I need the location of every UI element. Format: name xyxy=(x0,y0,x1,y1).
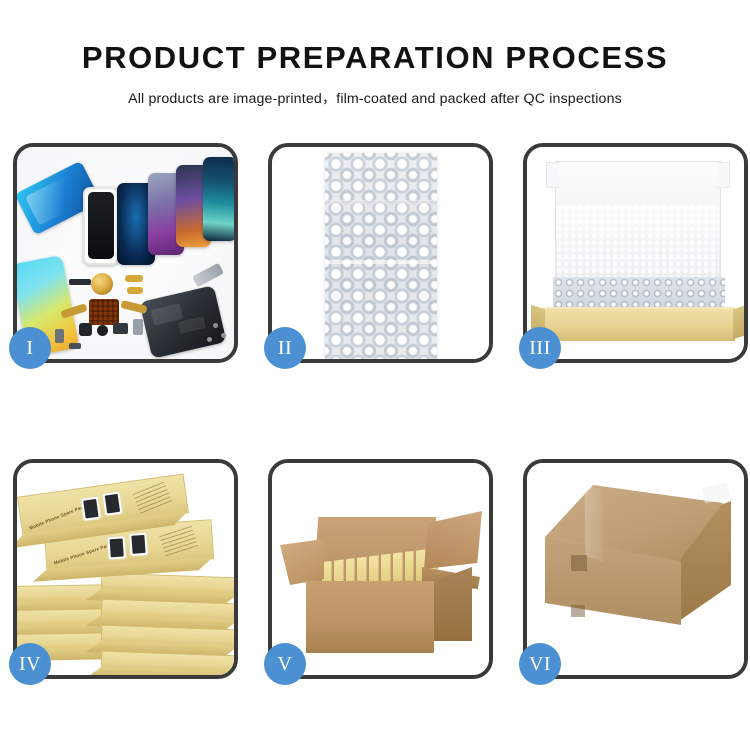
page-title: PRODUCT PREPARATION PROCESS xyxy=(0,40,750,76)
battery-icon xyxy=(133,319,143,335)
camera-lens-icon xyxy=(97,325,108,336)
phone-artwork-icon xyxy=(107,536,125,559)
step-badge-4: IV xyxy=(9,643,51,685)
packing-tape-icon xyxy=(584,484,603,562)
phone-motherboard-icon xyxy=(139,285,226,359)
phone-artwork-icon xyxy=(129,533,147,556)
phone-glass-panel-icon xyxy=(83,187,119,265)
bubble-wrap-pouch-icon xyxy=(325,153,437,359)
process-step-panel-2: II xyxy=(268,143,493,363)
flex-cable-icon xyxy=(127,287,143,294)
retail-box-icon xyxy=(101,625,234,648)
step-2-image xyxy=(272,147,489,359)
header: PRODUCT PREPARATION PROCESS All products… xyxy=(0,0,750,108)
earpiece-mesh-icon xyxy=(69,279,91,285)
step-badge-5: V xyxy=(264,643,306,685)
step-badge-2: II xyxy=(264,327,306,369)
process-step-panel-3: III xyxy=(523,143,748,363)
process-step-panel-1: I xyxy=(13,143,238,363)
carton-front-panel-icon xyxy=(306,581,434,653)
process-step-panel-4: Mobile Phone Spare Parts Mobile Phone Sp… xyxy=(13,459,238,679)
step-badge-3: III xyxy=(519,327,561,369)
phone-artwork-icon xyxy=(81,497,101,521)
connector-icon xyxy=(55,329,64,343)
step-6-image xyxy=(527,463,744,675)
speaker-icon xyxy=(113,323,128,334)
tweezers-icon xyxy=(192,263,224,288)
step-badge-6: VI xyxy=(519,643,561,685)
step-1-image xyxy=(17,147,234,359)
kraft-box-tray-icon xyxy=(543,307,735,341)
process-step-grid: I II III xyxy=(13,143,737,679)
connector-icon xyxy=(69,343,81,349)
packing-tape-end-icon xyxy=(702,482,731,503)
retail-box-stack: Mobile Phone Spare Parts Mobile Phone Sp… xyxy=(17,463,234,675)
spec-text-lines xyxy=(133,481,173,514)
bubble-wrapped-contents-icon xyxy=(553,277,725,311)
spec-text-lines xyxy=(159,526,198,557)
flex-cable-icon xyxy=(125,275,143,282)
screw-icon xyxy=(207,337,212,342)
retail-box-label: Mobile Phone Spare Parts xyxy=(53,542,113,566)
vibration-motor-icon xyxy=(91,273,113,295)
phone-display-teal-icon xyxy=(203,157,234,241)
process-step-panel-5: V xyxy=(268,459,493,679)
screw-icon xyxy=(221,333,226,338)
chip-array-icon xyxy=(89,299,119,325)
retail-box-icon xyxy=(101,573,234,596)
screw-icon xyxy=(213,323,218,328)
page-subtitle: All products are image-printed，film-coat… xyxy=(0,88,750,108)
step-3-image xyxy=(527,147,744,359)
step-badge-1: I xyxy=(9,327,51,369)
carton-left-flap-icon xyxy=(280,539,324,585)
process-step-panel-6: VI xyxy=(523,459,748,679)
product-preparation-infographic: PRODUCT PREPARATION PROCESS All products… xyxy=(0,0,750,750)
foam-sheet-icon xyxy=(557,205,719,277)
carton-label-icon xyxy=(571,605,585,617)
phone-artwork-icon xyxy=(102,492,122,516)
retail-box-icon xyxy=(101,651,234,674)
retail-box-icon xyxy=(101,599,234,622)
step-4-image: Mobile Phone Spare Parts Mobile Phone Sp… xyxy=(17,463,234,675)
camera-module-icon xyxy=(79,323,92,336)
carton-label-icon xyxy=(571,555,587,571)
step-5-image xyxy=(272,463,489,675)
